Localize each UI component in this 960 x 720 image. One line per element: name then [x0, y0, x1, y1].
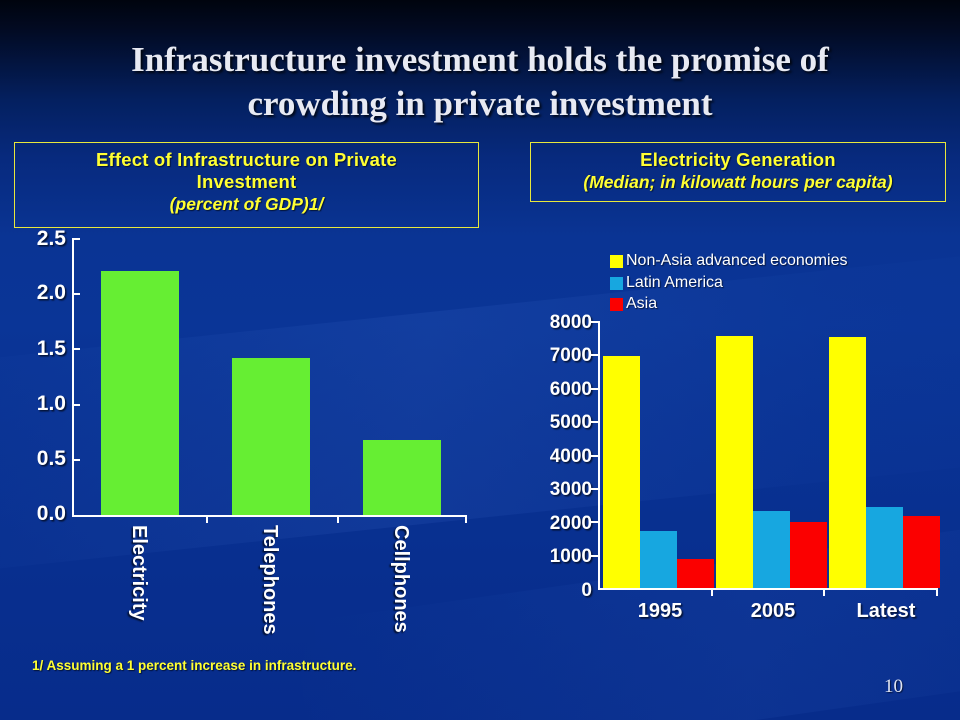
right-ytick-label-1000: 1000 [518, 546, 592, 568]
right-bar-1995-latin-america [640, 531, 677, 588]
left-xtick-mark-1 [337, 515, 339, 523]
left-ytick-label-1: 2.0 [8, 281, 66, 305]
right-bar-latest-non-asia-advanced [829, 337, 866, 588]
right-ytick-mark-8000 [591, 321, 599, 323]
right-ytick-mark-5000 [591, 421, 599, 423]
left-bar-telephones [232, 358, 310, 515]
left-ytick-label-0: 2.5 [8, 227, 66, 251]
right-ytick-label-2000: 2000 [518, 513, 592, 535]
left-chart-x-axis [72, 515, 467, 517]
left-bar-cellphones [363, 440, 441, 515]
left-ytick-mark-0 [72, 238, 80, 240]
legend-swatch-non-asia-advanced [610, 255, 623, 268]
right-xtick-label-latest: Latest [841, 600, 931, 623]
right-ytick-label-4000: 4000 [518, 446, 592, 468]
right-ytick-label-3000: 3000 [518, 479, 592, 501]
page-number: 10 [884, 676, 903, 698]
left-ytick-label-4: 0.5 [8, 447, 66, 471]
right-bar-2005-non-asia-advanced [716, 336, 753, 588]
legend-label-asia: Asia [626, 296, 657, 312]
legend-item-latin-america: Latin America [610, 275, 723, 291]
left-ytick-mark-2 [72, 348, 80, 350]
right-bar-2005-latin-america [753, 511, 790, 588]
legend-item-asia: Asia [610, 296, 657, 312]
right-bar-2005-asia [790, 522, 827, 588]
slide-canvas: Infrastructure investment holds the prom… [0, 0, 960, 720]
right-ytick-mark-1000 [591, 555, 599, 557]
right-bar-latest-latin-america [866, 507, 903, 588]
right-ytick-label-6000: 6000 [518, 379, 592, 401]
left-xtick-label-cellphones: Cellphones [389, 525, 412, 633]
footnote-text: 1/ Assuming a 1 percent increase in infr… [32, 658, 356, 673]
left-ytick-label-3: 1.0 [8, 392, 66, 416]
right-ytick-mark-6000 [591, 388, 599, 390]
right-ytick-mark-7000 [591, 354, 599, 356]
left-bar-electricity [101, 271, 179, 515]
right-xtick-label-1995: 1995 [615, 600, 705, 623]
right-xtick-mark-0 [711, 588, 713, 596]
left-xtick-label-electricity: Electricity [127, 525, 150, 621]
chart-effect-of-infrastructure: 2.5 2.0 1.5 1.0 0.5 0.0 Electricity Tele… [0, 0, 500, 720]
right-bar-1995-asia [677, 559, 714, 588]
left-ytick-mark-4 [72, 459, 80, 461]
legend-swatch-asia [610, 298, 623, 311]
left-ytick-label-5: 0.0 [8, 502, 66, 526]
right-chart-x-axis [598, 588, 938, 590]
chart-electricity-generation: Non-Asia advanced economies Latin Americ… [500, 0, 960, 720]
legend-item-non-asia-advanced: Non-Asia advanced economies [610, 253, 847, 269]
left-ytick-label-2: 1.5 [8, 337, 66, 361]
right-xtick-mark-1 [823, 588, 825, 596]
right-ytick-mark-3000 [591, 488, 599, 490]
right-ytick-label-0: 0 [518, 580, 592, 602]
right-ytick-mark-2000 [591, 521, 599, 523]
legend-label-non-asia-advanced: Non-Asia advanced economies [626, 253, 847, 269]
right-ytick-mark-4000 [591, 455, 599, 457]
left-ytick-mark-1 [72, 293, 80, 295]
left-xtick-label-telephones: Telephones [258, 525, 281, 635]
left-xtick-mark-2 [465, 515, 467, 523]
right-bar-1995-non-asia-advanced [603, 356, 640, 588]
left-ytick-mark-3 [72, 404, 80, 406]
legend-swatch-latin-america [610, 277, 623, 290]
left-chart-y-axis [72, 238, 74, 517]
right-ytick-label-8000: 8000 [518, 312, 592, 334]
right-ytick-label-5000: 5000 [518, 412, 592, 434]
right-xtick-mark-2 [936, 588, 938, 596]
left-xtick-mark-0 [206, 515, 208, 523]
right-xtick-label-2005: 2005 [728, 600, 818, 623]
right-bar-latest-asia [903, 516, 940, 588]
legend-label-latin-america: Latin America [626, 275, 723, 291]
right-ytick-label-7000: 7000 [518, 345, 592, 367]
